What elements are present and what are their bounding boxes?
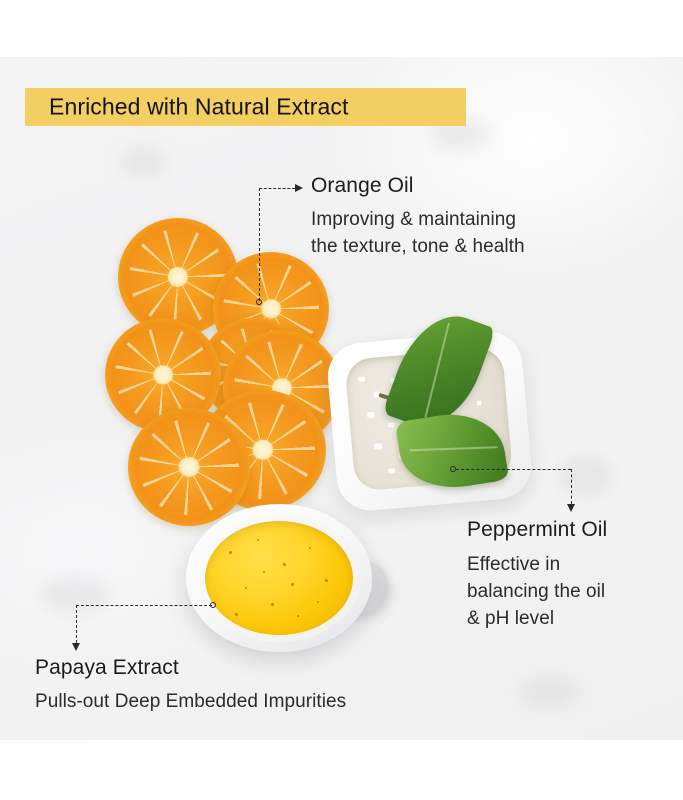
callout-headline: Peppermint Oil [467,518,607,542]
callout-body-line: & pH level [467,606,607,633]
leader-segment-vertical [571,469,572,504]
mug-body [186,504,372,652]
page-title: Enriched with Natural Extract [49,94,348,121]
callout-papaya-extract: Papaya Extract Pulls-out Deep Embedded I… [35,656,346,716]
product-ingredient-infographic: Enriched with Natural Extract Orange Oil… [0,0,683,800]
callout-body-line: the texture, tone & health [311,234,525,261]
callout-body-line: Pulls-out Deep Embedded Impurities [35,689,346,716]
leader-segment-horizontal [76,605,212,606]
callout-peppermint-oil: Peppermint Oil Effective in balancing th… [467,518,607,633]
orange-slice [128,408,250,526]
arrow-down-icon [72,643,80,651]
mug-rim [197,514,361,642]
leader-segment-vertical [259,188,260,301]
callout-body: Improving & maintaining the texture, ton… [311,207,525,261]
callout-body-line: Improving & maintaining [311,207,525,234]
callout-headline: Papaya Extract [35,656,346,680]
callout-body: Pulls-out Deep Embedded Impurities [35,689,346,716]
leader-segment-horizontal [259,188,295,189]
callout-orange-oil: Orange Oil Improving & maintaining the t… [311,174,525,261]
title-banner: Enriched with Natural Extract [25,88,466,126]
callout-body-line: Effective in [467,552,607,579]
leader-segment-horizontal [456,469,571,470]
arrow-down-icon [567,504,575,512]
arrow-right-icon [295,184,303,192]
mug-liquid [205,521,353,635]
callout-body: Effective in balancing the oil & pH leve… [467,552,607,633]
callout-headline: Orange Oil [311,174,525,198]
leader-segment-vertical [76,605,77,643]
callout-body-line: balancing the oil [467,579,607,606]
